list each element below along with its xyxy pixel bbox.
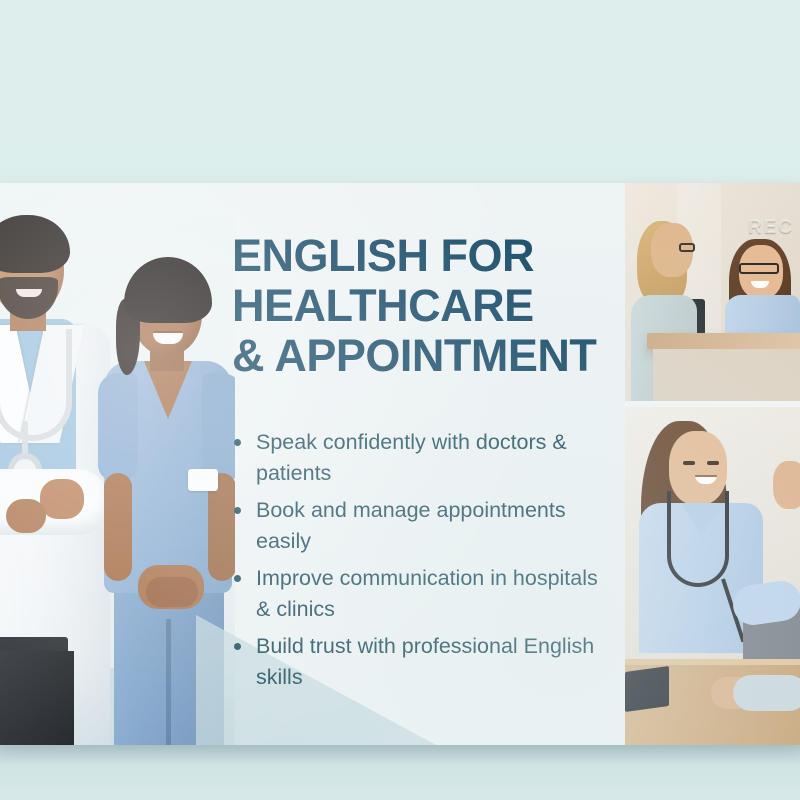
- bullet-dot-icon: [234, 643, 241, 650]
- benefits-list: Speak confidently with doctors & patient…: [232, 427, 606, 693]
- page-title: ENGLISH FOR HEALTHCARE & APPOINTMENT: [232, 231, 606, 381]
- card-drop-shadow: [0, 745, 800, 800]
- poster-canvas: ENGLISH FOR HEALTHCARE & APPOINTMENT Spe…: [0, 0, 800, 800]
- headline-line-1: ENGLISH FOR: [232, 231, 606, 281]
- receptionist-glasses-icon: [739, 263, 779, 274]
- visitor-glasses-icon: [679, 243, 695, 252]
- patient-sleeve: [733, 675, 800, 711]
- bullet-dot-icon: [234, 575, 241, 582]
- doctor-beard: [0, 277, 58, 319]
- laptop-icon: [625, 666, 669, 712]
- patient-head: [773, 461, 800, 509]
- list-item-label: Speak confidently with doctors & patient…: [256, 430, 567, 485]
- list-item: Improve communication in hospitals & cli…: [232, 563, 606, 625]
- bullet-dot-icon: [234, 439, 241, 446]
- list-item: Book and manage appointments easily: [232, 495, 606, 557]
- doctor-hand-lower: [6, 499, 46, 533]
- stethoscope-icon: [0, 329, 72, 441]
- nurse-hands-overlap: [146, 577, 198, 607]
- nurse-pant-seam: [166, 619, 171, 745]
- headline-line-3: & APPOINTMENT: [232, 331, 606, 381]
- stethoscope-icon: [667, 491, 729, 587]
- list-item-label: Improve communication in hospitals & cli…: [256, 566, 598, 621]
- photo-consultation: [625, 407, 800, 745]
- doctor-mouth: [16, 289, 42, 297]
- headline-line-2: HEALTHCARE: [232, 281, 606, 331]
- text-panel: ENGLISH FOR HEALTHCARE & APPOINTMENT Spe…: [214, 183, 628, 745]
- list-item: Build trust with professional English sk…: [232, 631, 606, 693]
- doctor-hand-upper: [40, 479, 84, 519]
- photo-reception-desk: REC: [625, 183, 800, 401]
- banner-card: ENGLISH FOR HEALTHCARE & APPOINTMENT Spe…: [0, 183, 800, 745]
- reception-sign-text: REC: [748, 217, 794, 239]
- reception-counter-front: [653, 349, 800, 401]
- clinician-eye-left: [683, 461, 695, 465]
- list-item-label: Book and manage appointments easily: [256, 498, 566, 553]
- bullet-dot-icon: [234, 507, 241, 514]
- nurse-hair: [124, 257, 212, 323]
- doctor-trousers: [0, 651, 74, 745]
- nurse-sleeve-left: [98, 373, 138, 481]
- list-item-label: Build trust with professional English sk…: [256, 634, 594, 689]
- clinician-eye-right: [707, 461, 719, 465]
- reception-counter-top: [647, 333, 800, 349]
- nurse-arm-left: [104, 473, 132, 581]
- photo-column-right: REC: [625, 183, 800, 745]
- doctor-hair: [0, 215, 70, 273]
- list-item: Speak confidently with doctors & patient…: [232, 427, 606, 489]
